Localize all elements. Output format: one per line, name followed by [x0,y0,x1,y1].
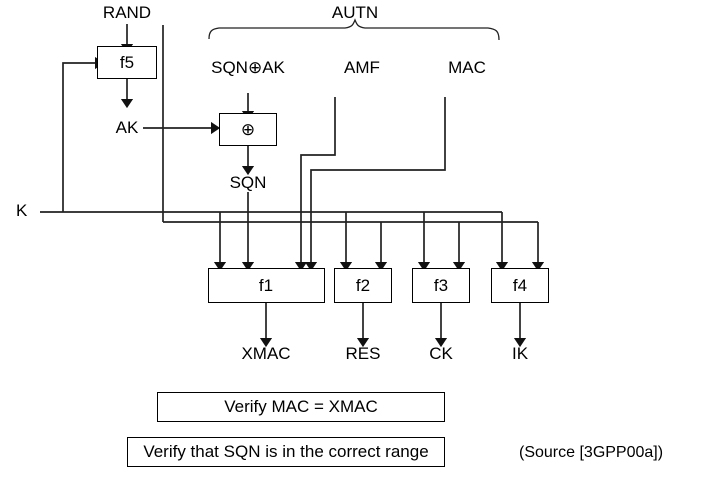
block-f4-label: f4 [513,276,527,296]
label-sqn-xor-ak: SQN⊕AK [211,58,285,77]
label-ck: CK [429,344,453,363]
verify-mac-box[interactable]: Verify MAC = XMAC [157,392,445,422]
label-rand: RAND [103,3,151,22]
label-amf: AMF [344,58,380,77]
label-xmac: XMAC [241,344,290,363]
wire-amf-to-f1 [301,97,335,264]
label-sqn: SQN [230,173,267,192]
block-f3-label: f3 [434,276,448,296]
label-k: K [16,201,27,220]
wire-k-to-f5 [63,63,97,212]
autn-bracket [209,20,499,40]
block-f5-label: f5 [120,53,134,73]
block-f2-label: f2 [356,276,370,296]
label-ak: AK [116,118,139,137]
block-xor-label: ⊕ [241,120,255,140]
block-f1-label: f1 [259,276,273,296]
label-mac: MAC [448,58,486,77]
wire-mac-to-f1 [311,97,445,264]
verify-sqn-box[interactable]: Verify that SQN is in the correct range [127,437,445,467]
diagram-canvas: f5 ⊕ f1 f2 f3 f4 RAND K AUTN SQN⊕AK AMF … [0,0,712,482]
label-ik: IK [512,344,528,363]
label-res: RES [346,344,381,363]
label-autn: AUTN [332,3,378,22]
source-note: (Source [3GPP00a]) [519,444,663,462]
